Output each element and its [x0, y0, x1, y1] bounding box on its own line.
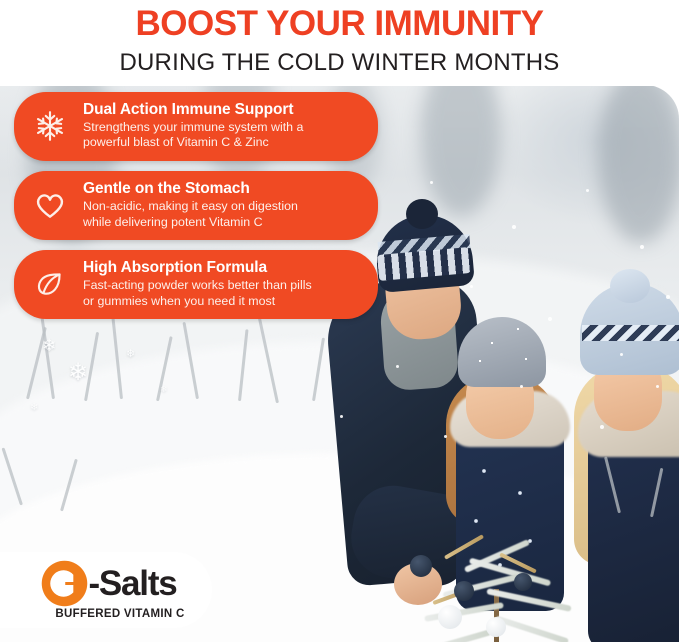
feature-description-line: Strengthens your immune system with a [83, 120, 303, 136]
c-mark-icon [41, 560, 88, 607]
page-subtitle: DURING THE COLD WINTER MONTHS [0, 41, 679, 75]
mother-hat-pompom [610, 269, 650, 303]
leaf-icon [30, 264, 70, 304]
feature-list: Dual Action Immune Support Strengthens y… [14, 92, 378, 319]
logo-lockup: -Salts [41, 560, 176, 607]
feature-description-line: Non-acidic, making it easy on digestion [83, 199, 298, 215]
decorated-pine-tree [402, 543, 592, 642]
feature-title: High Absorption Formula [83, 259, 312, 277]
logo-wordmark: -Salts [88, 566, 176, 601]
feature-description-line: Fast-acting powder works better than pil… [83, 278, 312, 294]
product-marketing-image: ❄ ❄ ❄ ❄ ❄ BOOST YOUR IMMUNITY DURING THE… [0, 0, 679, 642]
tree-ornament [454, 581, 474, 601]
snowflake-icon [30, 106, 70, 146]
tree-ornament [438, 605, 462, 629]
page-title: BOOST YOUR IMMUNITY [0, 0, 679, 41]
snowflake-decor-icon: ❄ [160, 385, 168, 394]
mother-hat-pattern [582, 325, 679, 341]
tree-ornament [486, 617, 506, 637]
snowflake-decor-icon: ❄ [126, 349, 135, 360]
heart-icon [30, 185, 70, 225]
header-banner: BOOST YOUR IMMUNITY DURING THE COLD WINT… [0, 0, 679, 86]
background-tree [598, 85, 679, 243]
feature-title: Gentle on the Stomach [83, 180, 298, 198]
feature-item-dual-action: Dual Action Immune Support Strengthens y… [14, 92, 378, 161]
feature-item-gentle-stomach: Gentle on the Stomach Non-acidic, making… [14, 171, 378, 240]
feature-text: Gentle on the Stomach Non-acidic, making… [83, 180, 298, 230]
feature-text: Dual Action Immune Support Strengthens y… [83, 101, 303, 151]
feature-text: High Absorption Formula Fast-acting powd… [83, 259, 312, 309]
tree-ornament [514, 573, 532, 591]
logo-tagline: BUFFERED VITAMIN C [55, 608, 184, 620]
feature-item-high-absorption: High Absorption Formula Fast-acting powd… [14, 250, 378, 319]
tree-ornament [410, 555, 432, 577]
feature-description-line: while delivering potent Vitamin C [83, 215, 298, 231]
snowflake-decor-icon: ❄ [68, 361, 88, 385]
brand-logo-badge: -Salts BUFFERED VITAMIN C [0, 552, 212, 628]
background-tree [421, 85, 501, 217]
snowflake-decor-icon: ❄ [42, 337, 56, 354]
feature-title: Dual Action Immune Support [83, 101, 303, 119]
feature-description-line: powerful blast of Vitamin C & Zinc [83, 135, 303, 151]
feature-description-line: or gummies when you need it most [83, 294, 312, 310]
snowflake-decor-icon: ❄ [30, 403, 38, 413]
father-hat-pompom [406, 199, 438, 229]
